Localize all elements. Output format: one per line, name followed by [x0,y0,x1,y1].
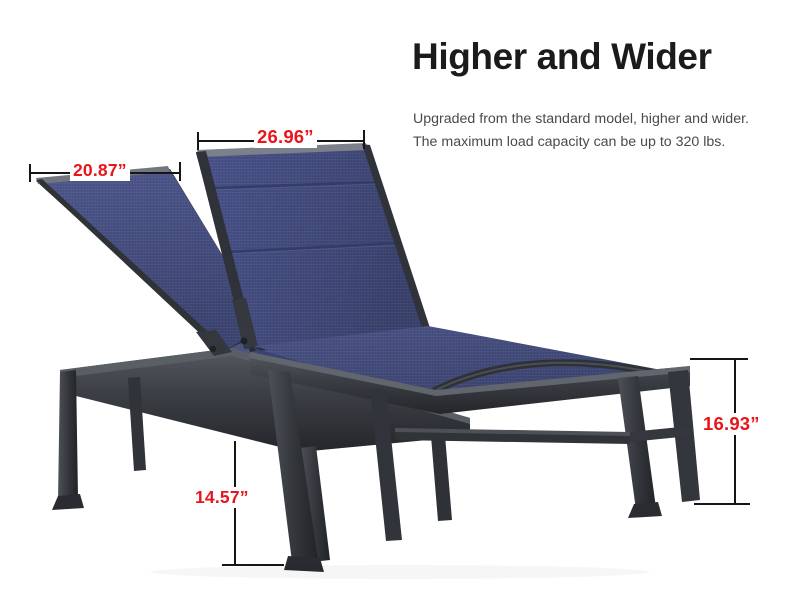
dimension-tick-bottom [222,564,284,566]
dimension-label-frame-height: 14.57” [192,487,252,508]
description-line-2: The maximum load capacity can be up to 3… [413,131,788,154]
product-feature-image: Higher and Wider Upgraded from the stand… [0,0,800,600]
dimension-label-back-width: 20.87” [70,160,130,181]
dimension-tick-bottom [694,503,750,505]
dimension-tick-top [690,358,748,360]
dimension-tick-right [363,130,365,149]
description-text: Upgraded from the standard model, higher… [413,108,788,154]
dimension-label-seat-height: 16.93” [700,413,763,435]
page-title: Higher and Wider [412,38,712,77]
dimension-label-front-width: 26.96” [254,126,317,148]
description-line-1: Upgraded from the standard model, higher… [413,108,788,131]
dimension-tick-right [179,162,181,181]
chaise-lounge-illustration [0,0,800,600]
